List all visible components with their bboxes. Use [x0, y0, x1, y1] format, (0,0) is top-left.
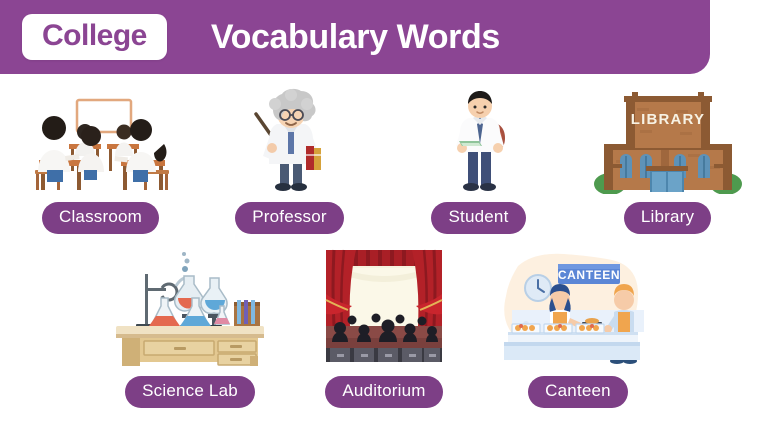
category-badge-label: College	[42, 21, 147, 51]
vocabulary-label-science-lab: Science Lab	[125, 376, 255, 408]
library-sign-text: LIBRARY	[630, 111, 705, 128]
page-title: Vocabulary Words	[211, 20, 500, 54]
vocabulary-card-student: Student	[399, 86, 559, 234]
auditorium-icon	[304, 248, 464, 366]
library-building-illustration: LIBRARY	[588, 86, 748, 194]
science-lab-illustration	[110, 248, 270, 366]
vocabulary-card-classroom: Classroom	[21, 86, 181, 234]
category-badge: College	[22, 14, 167, 60]
vocabulary-label-canteen: Canteen	[528, 376, 628, 408]
vocabulary-label-student: Student	[431, 202, 525, 234]
vocabulary-label-library: Library	[624, 202, 711, 234]
vocabulary-card-auditorium: Auditorium	[304, 248, 464, 408]
canteen-icon: CANTEEN	[498, 248, 658, 366]
infographic-page: College Vocabulary Words	[0, 0, 768, 432]
student-illustration	[399, 86, 559, 194]
vocabulary-card-science-lab: Science Lab	[110, 248, 270, 408]
vocabulary-label-auditorium: Auditorium	[325, 376, 442, 408]
header-bar: College Vocabulary Words	[0, 0, 710, 74]
vocabulary-card-canteen: CANTEEN	[498, 248, 658, 408]
professor-illustration	[210, 86, 370, 194]
student-icon	[399, 86, 559, 194]
vocabulary-label-classroom: Classroom	[42, 202, 159, 234]
classroom-icon	[21, 86, 181, 194]
vocabulary-label-professor: Professor	[235, 202, 344, 234]
vocabulary-card-library: LIBRARY	[588, 86, 748, 234]
classroom-illustration	[21, 86, 181, 194]
canteen-illustration: CANTEEN	[498, 248, 658, 366]
library-building-icon: LIBRARY	[588, 86, 748, 194]
science-lab-icon	[110, 248, 270, 366]
auditorium-illustration	[304, 248, 464, 366]
canteen-sign-text: CANTEEN	[558, 268, 620, 282]
professor-icon	[210, 86, 370, 194]
vocabulary-row-1: Classroom	[0, 86, 768, 234]
vocabulary-row-2: Science Lab	[0, 248, 768, 408]
vocabulary-card-professor: Professor	[210, 86, 370, 234]
